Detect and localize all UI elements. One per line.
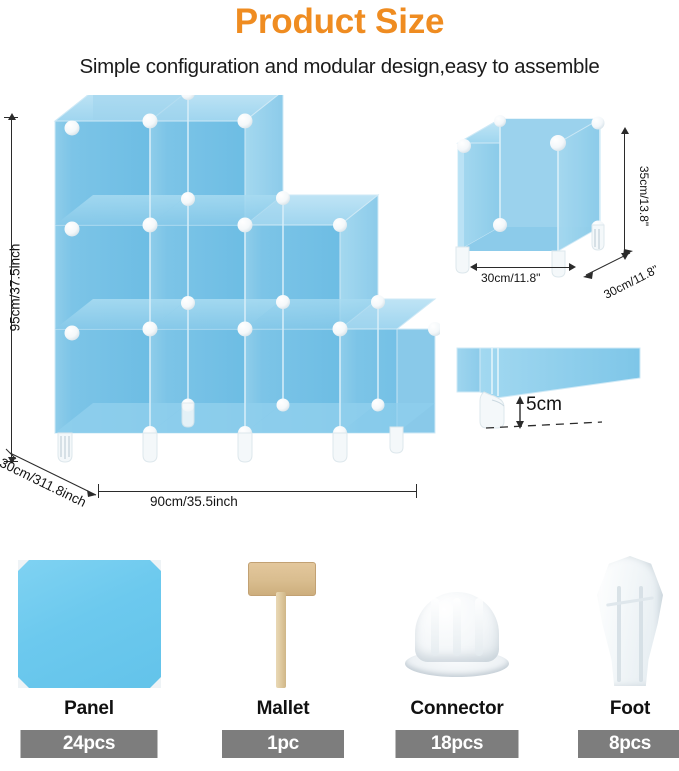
shelf-height-label: 95cm/37.5inch — [8, 213, 23, 363]
width-tick-right — [416, 484, 417, 498]
connector-shape — [405, 592, 509, 684]
height-tick-top — [4, 117, 18, 118]
foot-height-label: 5cm — [526, 394, 562, 416]
shelf-width-label: 90cm/35.5inch — [150, 494, 238, 509]
part-count-connector: 18pcs — [396, 730, 519, 758]
part-label-connector: Connector — [372, 698, 542, 720]
cube-width-line — [476, 267, 572, 268]
part-count-mallet: 1pc — [222, 730, 344, 758]
part-label-panel: Panel — [4, 698, 174, 720]
cube-height-arrow-top — [621, 127, 629, 134]
part-item-panel: Panel 24pcs — [4, 548, 174, 771]
width-dimension-line — [98, 491, 416, 492]
foot-shape — [597, 556, 663, 686]
panel-swatch-shape — [18, 560, 161, 688]
page-title: Product Size — [0, 2, 679, 42]
connector-icon — [372, 548, 542, 688]
cube-width-arrow-left — [470, 263, 477, 271]
foot-detail-illustration — [440, 330, 679, 440]
shelf-figure: 95cm/37.5inch 90cm/35.5inch 30cm/311.8in… — [0, 95, 440, 525]
mallet-head-shape — [248, 562, 316, 596]
part-item-connector: Connector 18pcs — [372, 548, 542, 771]
cube-width-label: 30cm/11.8" — [481, 271, 540, 285]
mallet-icon — [198, 548, 368, 688]
connector-rib-3 — [475, 598, 483, 656]
mallet-handle-shape — [276, 592, 286, 688]
cube-height-label: 35cm/13.8" — [637, 141, 651, 251]
product-size-infographic: Product Size Simple configuration and mo… — [0, 0, 679, 771]
cube-height-line — [624, 133, 625, 257]
part-label-mallet: Mallet — [198, 698, 368, 720]
page-subtitle: Simple configuration and modular design,… — [0, 55, 679, 79]
connector-rib-1 — [431, 598, 439, 656]
part-count-panel: 24pcs — [21, 730, 158, 758]
single-cube-figure: 35cm/13.8" 30cm/11.8" 30cm/11.8" — [440, 105, 679, 305]
part-label-foot: Foot — [545, 698, 679, 720]
part-count-foot: 8pcs — [578, 730, 679, 758]
connector-rib-2 — [453, 598, 461, 656]
parts-list: Panel 24pcs Mallet 1pc Co — [0, 548, 679, 771]
foot-body — [597, 556, 663, 686]
cube-width-arrow-right — [569, 263, 576, 271]
part-item-foot: Foot 8pcs — [545, 548, 679, 771]
panel-icon — [4, 548, 174, 688]
foot-clearance-detail: 5cm — [440, 330, 679, 440]
part-item-mallet: Mallet 1pc — [198, 548, 368, 771]
foot-icon — [545, 548, 679, 688]
